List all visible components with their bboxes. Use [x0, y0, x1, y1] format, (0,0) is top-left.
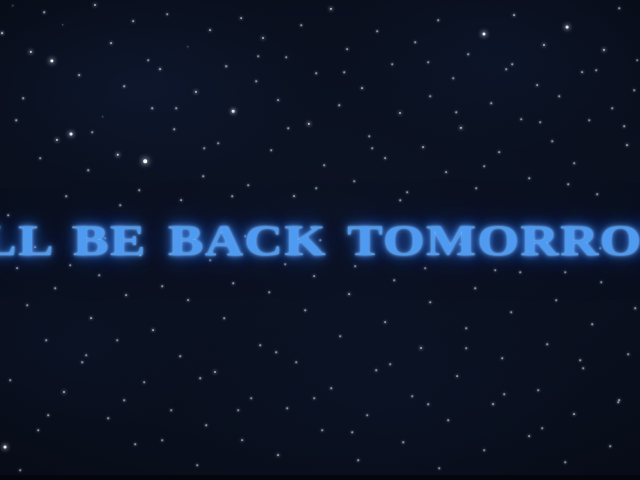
star	[187, 299, 189, 301]
star	[501, 357, 503, 359]
star	[313, 397, 315, 399]
star	[564, 461, 566, 463]
star	[627, 353, 629, 355]
star	[70, 133, 73, 136]
star	[338, 104, 340, 106]
star	[15, 119, 17, 121]
title-text: I'LL BE BACK TOMORROW	[0, 218, 640, 261]
star	[368, 135, 370, 137]
letterbox-bottom-band	[0, 475, 640, 480]
star	[315, 72, 317, 74]
star	[551, 140, 553, 142]
star	[268, 291, 270, 293]
star	[399, 112, 401, 114]
star	[143, 159, 147, 163]
star	[45, 339, 47, 341]
star	[196, 464, 198, 466]
star	[474, 287, 476, 289]
star	[399, 199, 401, 201]
star	[511, 63, 513, 65]
star	[636, 59, 638, 61]
star	[611, 107, 613, 109]
star	[520, 118, 522, 120]
star	[240, 17, 242, 19]
star	[203, 147, 205, 149]
star	[287, 127, 289, 129]
star	[313, 275, 315, 277]
star	[98, 274, 100, 276]
star	[9, 379, 11, 381]
star	[39, 157, 41, 159]
star	[503, 393, 505, 395]
star	[231, 195, 233, 197]
star	[12, 5, 13, 6]
star	[180, 199, 182, 201]
star	[143, 381, 145, 383]
star	[94, 4, 96, 6]
star	[4, 446, 7, 449]
star	[62, 24, 63, 25]
star	[275, 351, 277, 353]
star	[152, 329, 154, 331]
star	[237, 409, 239, 411]
star	[205, 424, 207, 426]
star	[595, 69, 597, 71]
star	[110, 42, 112, 44]
star	[241, 439, 243, 441]
star	[134, 443, 136, 445]
star	[626, 144, 628, 146]
star	[161, 285, 163, 287]
star	[591, 323, 593, 325]
star	[323, 164, 325, 166]
star	[22, 97, 24, 99]
star	[483, 165, 485, 167]
star	[498, 151, 500, 153]
star	[19, 469, 21, 471]
star	[304, 309, 306, 311]
star	[348, 293, 350, 295]
star	[91, 131, 93, 133]
star	[389, 363, 391, 365]
star	[438, 467, 440, 469]
star	[573, 162, 575, 164]
star	[85, 354, 87, 356]
star	[255, 80, 257, 82]
star	[603, 49, 605, 51]
star	[30, 51, 32, 53]
star	[1, 32, 3, 34]
star	[262, 37, 264, 39]
star	[447, 419, 449, 421]
video-frame: I'LL BE BACK TOMORROW	[0, 0, 640, 480]
star	[300, 24, 302, 26]
star	[391, 63, 393, 65]
star	[541, 427, 543, 429]
star	[346, 48, 348, 50]
star	[427, 403, 429, 405]
star	[102, 116, 103, 117]
star	[536, 84, 538, 86]
star	[116, 339, 118, 341]
star	[209, 29, 211, 31]
star	[26, 304, 28, 306]
star	[414, 41, 416, 43]
star	[581, 71, 583, 73]
star	[513, 14, 515, 16]
star	[173, 128, 175, 130]
star	[351, 431, 353, 433]
star	[330, 387, 332, 389]
star	[50, 59, 53, 62]
star	[315, 187, 317, 189]
star	[107, 417, 109, 419]
star	[259, 344, 261, 346]
star	[437, 19, 439, 21]
star	[56, 139, 58, 141]
title-card: I'LL BE BACK TOMORROW	[0, 206, 640, 274]
star	[588, 119, 590, 121]
star	[558, 95, 560, 97]
star	[490, 102, 492, 104]
star	[384, 321, 386, 323]
star	[277, 454, 279, 456]
star	[123, 85, 125, 87]
star	[492, 403, 494, 405]
star	[217, 142, 219, 144]
star	[375, 369, 377, 371]
star	[159, 68, 161, 70]
star	[573, 413, 575, 415]
star	[452, 77, 454, 79]
star	[510, 311, 512, 313]
star	[579, 359, 581, 361]
star	[147, 59, 149, 61]
star	[566, 26, 569, 29]
star	[353, 180, 355, 182]
star	[384, 157, 386, 159]
star	[427, 61, 429, 63]
star	[90, 317, 92, 319]
star	[475, 187, 477, 189]
star	[445, 171, 447, 173]
star	[277, 99, 279, 101]
star	[600, 281, 602, 283]
star	[339, 335, 341, 337]
star	[609, 445, 611, 447]
star	[343, 71, 345, 73]
star	[308, 123, 310, 125]
star	[179, 355, 181, 357]
star	[393, 279, 395, 281]
star	[528, 177, 530, 179]
star	[250, 397, 252, 399]
star	[195, 91, 197, 93]
star	[63, 391, 65, 393]
star	[285, 56, 287, 58]
star	[429, 95, 431, 97]
star	[376, 30, 378, 32]
star	[543, 44, 545, 46]
star	[295, 361, 297, 363]
star	[225, 65, 227, 67]
star	[117, 154, 119, 156]
star	[618, 399, 620, 401]
star	[87, 169, 89, 171]
star	[402, 441, 404, 443]
star	[460, 127, 462, 129]
star	[123, 399, 125, 401]
star	[151, 107, 153, 109]
star	[455, 111, 457, 113]
star	[286, 407, 288, 409]
star	[555, 299, 557, 301]
star	[465, 347, 467, 349]
star	[223, 317, 225, 319]
star	[37, 429, 39, 431]
star	[596, 193, 598, 195]
star	[202, 175, 204, 177]
star	[187, 46, 188, 47]
star	[505, 68, 507, 70]
star	[420, 347, 422, 349]
star	[361, 87, 363, 89]
star	[293, 195, 295, 197]
star	[54, 287, 56, 289]
star	[406, 191, 408, 193]
star	[411, 395, 413, 397]
star	[81, 361, 83, 363]
star	[633, 89, 635, 91]
star	[465, 327, 467, 329]
star	[214, 371, 216, 373]
star	[65, 195, 67, 197]
star	[232, 282, 234, 284]
star	[138, 189, 140, 191]
star	[528, 435, 530, 437]
star	[330, 8, 332, 10]
star	[623, 125, 625, 127]
star	[232, 110, 235, 113]
star	[166, 13, 168, 15]
star	[161, 439, 163, 441]
star	[132, 20, 134, 22]
star	[429, 301, 431, 303]
star	[175, 107, 177, 109]
star	[247, 184, 249, 186]
star	[422, 146, 424, 148]
star	[47, 414, 49, 416]
star	[270, 149, 272, 151]
star	[43, 11, 45, 13]
star	[634, 307, 636, 309]
star	[546, 343, 548, 345]
star	[618, 7, 620, 9]
star	[539, 121, 541, 123]
star	[582, 367, 584, 369]
star	[537, 389, 539, 391]
star	[467, 53, 469, 55]
star	[78, 74, 80, 76]
star	[357, 459, 359, 461]
star	[199, 377, 201, 379]
star	[321, 429, 323, 431]
star	[125, 294, 127, 296]
star	[371, 147, 373, 149]
star	[456, 375, 458, 377]
star	[482, 32, 485, 35]
star	[483, 449, 485, 451]
star	[567, 183, 569, 185]
star	[617, 401, 619, 403]
star	[170, 409, 172, 411]
star	[366, 414, 368, 416]
star	[257, 55, 259, 57]
